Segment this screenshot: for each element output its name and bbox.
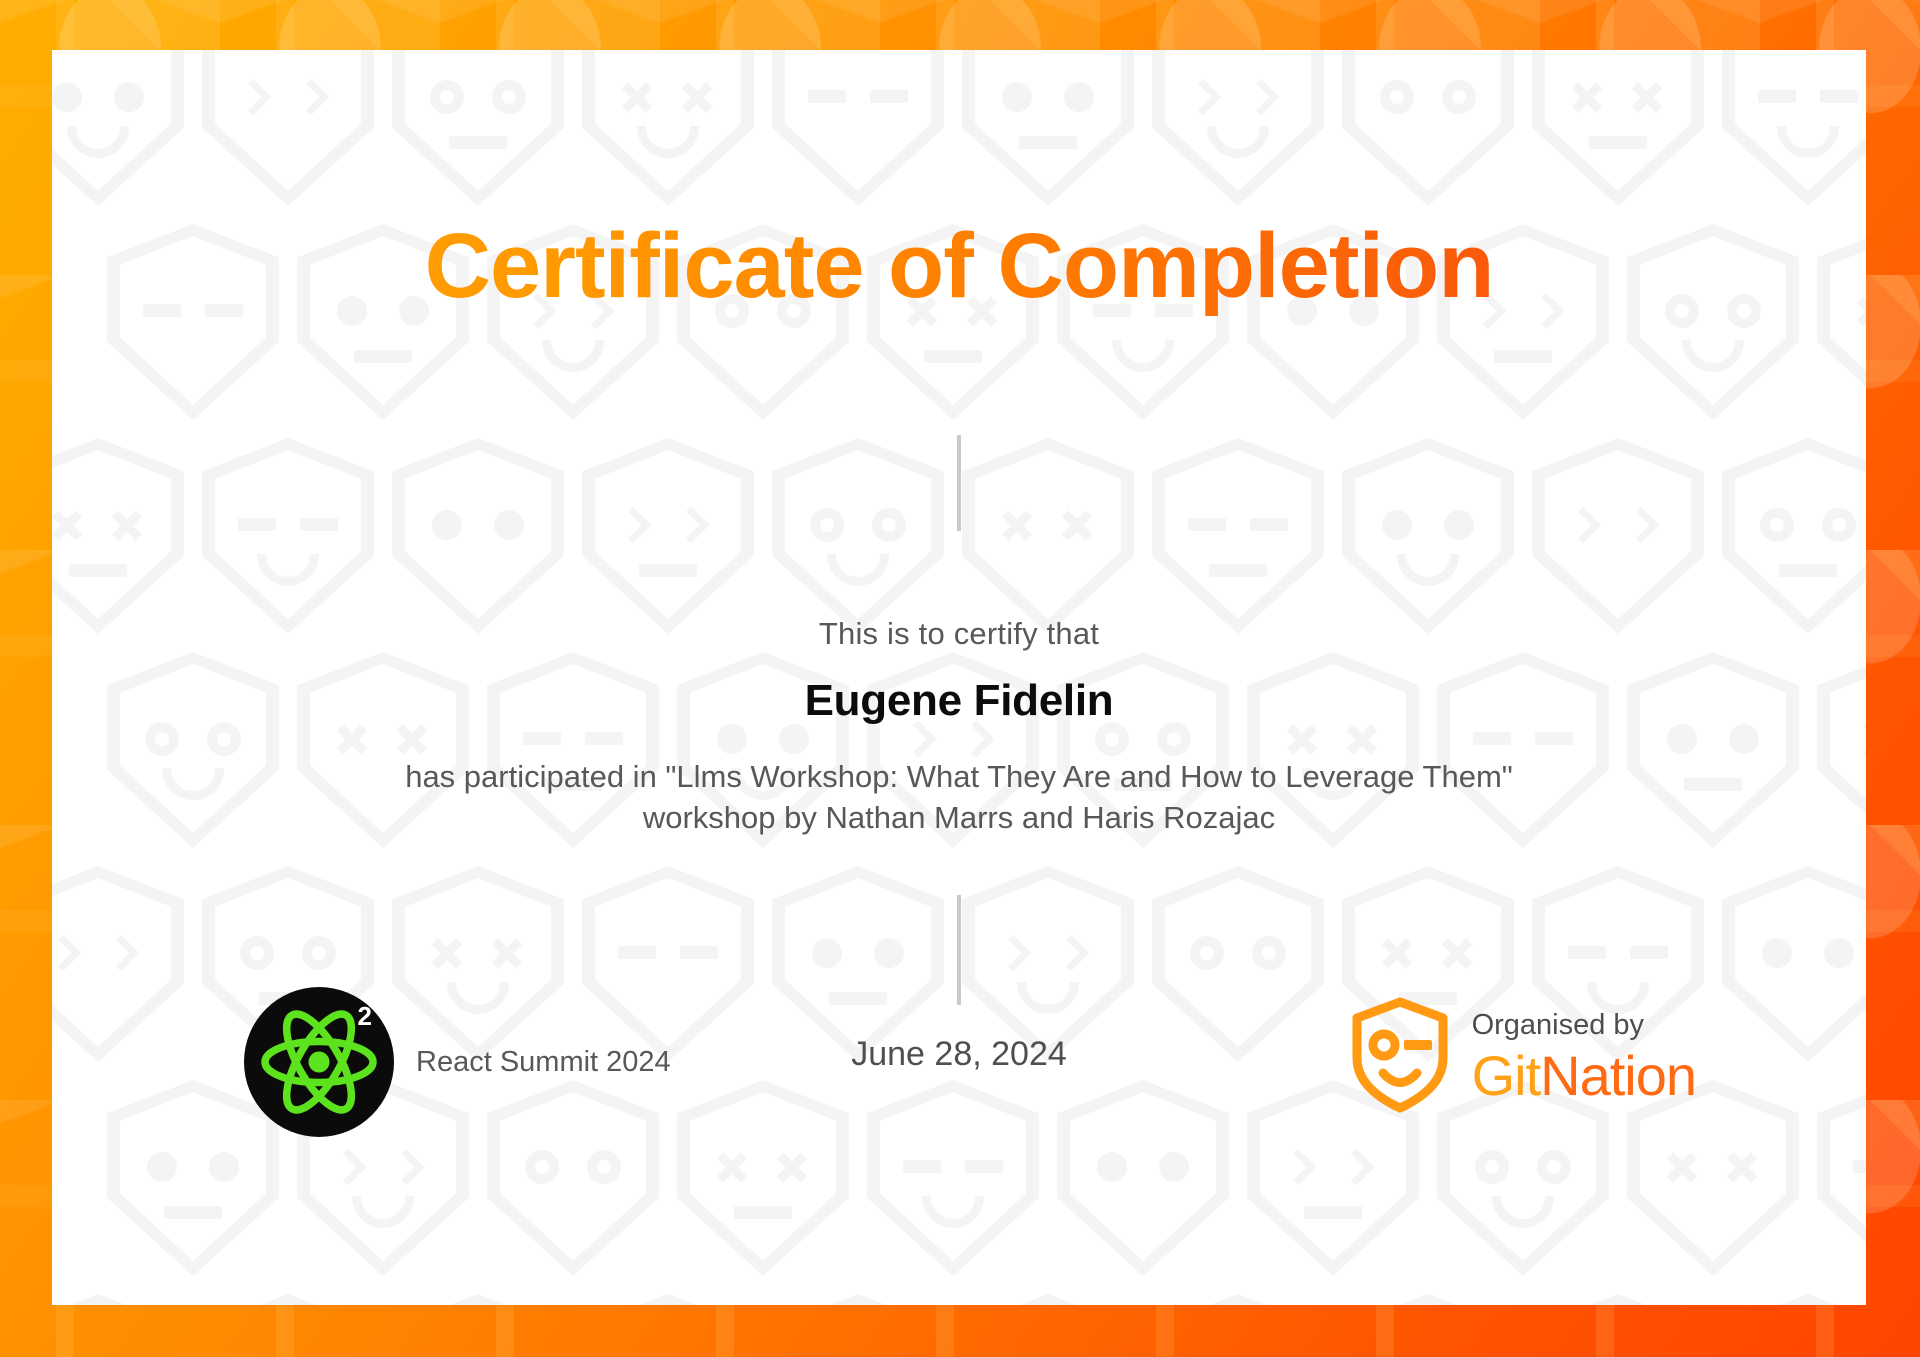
watermark-shield-icon <box>1817 1080 1866 1276</box>
event-label: React Summit 2024 <box>416 1046 671 1079</box>
certificate-footer: 2 React Summit 2024 June 28, 2024 Or <box>192 987 1726 1137</box>
recipient-name: Eugene Fidelin <box>52 676 1866 726</box>
watermark-shield-icon <box>962 438 1134 634</box>
watermark-shield-icon <box>202 50 374 206</box>
watermark-shield-icon <box>1722 1294 1866 1305</box>
react-atom-icon: 2 <box>244 987 394 1137</box>
watermark-shield-icon <box>962 50 1134 206</box>
page-title: Certificate of Completion <box>52 216 1866 317</box>
watermark-shield-icon <box>52 1294 184 1305</box>
watermark-shield-icon <box>392 438 564 634</box>
watermark-shield-icon <box>1152 1294 1324 1305</box>
event-logo-block: 2 React Summit 2024 <box>244 987 671 1137</box>
certificate-card: Certificate of Completion This is to cer… <box>52 50 1866 1305</box>
watermark-shield-icon <box>582 50 754 206</box>
issue-date: June 28, 2024 <box>851 1035 1067 1074</box>
organised-by-label: Organised by <box>1472 1011 1696 1040</box>
watermark-shield-icon <box>1342 50 1514 206</box>
watermark-shield-icon <box>1342 1294 1514 1305</box>
gitnation-wordmark-block: Organised by GitNation <box>1472 1011 1696 1104</box>
watermark-shield-icon <box>392 1294 564 1305</box>
organiser-block: Organised by GitNation <box>1350 997 1696 1118</box>
participation-text: has participated in "Llms Workshop: What… <box>52 756 1866 838</box>
watermark-shield-icon <box>582 438 754 634</box>
watermark-shield-icon <box>1532 438 1704 634</box>
watermark-shield-icon <box>202 438 374 634</box>
watermark-shield-icon <box>202 1294 374 1305</box>
watermark-shield-icon <box>1532 50 1704 206</box>
gitnation-nation-text: Nation <box>1540 1044 1696 1107</box>
watermark-shield-icon <box>772 1294 944 1305</box>
watermark-shield-icon <box>52 866 184 1062</box>
watermark-shield-icon <box>772 438 944 634</box>
certificate-body: This is to certify that Eugene Fidelin h… <box>52 616 1866 838</box>
participation-line-2: workshop by Nathan Marrs and Haris Rozaj… <box>52 797 1866 838</box>
participation-line-1: has participated in "Llms Workshop: What… <box>52 756 1866 797</box>
watermark-shield-icon <box>52 438 184 634</box>
watermark-shield-icon <box>1722 866 1866 1062</box>
watermark-shield-icon <box>1722 438 1866 634</box>
divider-top <box>957 435 961 531</box>
watermark-shield-icon <box>52 50 184 206</box>
watermark-shield-icon <box>962 1294 1134 1305</box>
watermark-shield-icon <box>1532 1294 1704 1305</box>
watermark-shield-icon <box>1722 50 1866 206</box>
watermark-shield-icon <box>1152 50 1324 206</box>
watermark-shield-icon <box>392 50 564 206</box>
gitnation-wordmark: GitNation <box>1472 1048 1696 1104</box>
gitnation-shield-icon <box>1350 997 1450 1118</box>
react-logo-superscript: 2 <box>358 1003 372 1029</box>
certificate-frame: Certificate of Completion This is to cer… <box>0 0 1920 1357</box>
gitnation-git-text: Git <box>1472 1044 1541 1107</box>
watermark-shield-icon <box>1152 438 1324 634</box>
watermark-shield-icon <box>582 1294 754 1305</box>
certify-line: This is to certify that <box>52 616 1866 652</box>
watermark-shield-icon <box>772 50 944 206</box>
watermark-shield-icon <box>1342 438 1514 634</box>
